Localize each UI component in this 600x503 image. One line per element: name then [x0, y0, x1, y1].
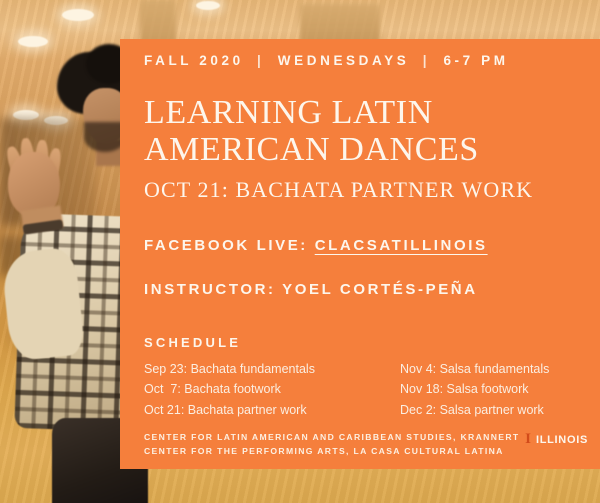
facebook-handle-link[interactable]: CLACSATILLINOIS: [315, 237, 488, 254]
schedule-heading: SCHEDULE: [144, 335, 241, 350]
list-item: Oct 7: Bachata footwork: [144, 379, 356, 399]
brand-wordmark: ILLINOIS: [536, 434, 588, 446]
dancer-sleeve: [1, 246, 86, 361]
illinois-logo: I ILLINOIS: [525, 432, 588, 447]
event-poster: FALL 2020 | WEDNESDAYS | 6-7 PM LEARNING…: [0, 0, 600, 503]
session-subtitle: OCT 21: BACHATA PARTNER WORK: [144, 177, 533, 203]
block-i-icon: I: [525, 432, 531, 447]
ceiling-light-icon: [62, 9, 94, 21]
title-line-1: LEARNING LATIN: [144, 94, 584, 131]
schedule-column-left: Sep 23: Bachata fundamentals Oct 7: Bach…: [144, 359, 356, 420]
footer-line-1: CENTER FOR LATIN AMERICAN AND CARIBBEAN …: [144, 431, 534, 445]
sponsors-footer: CENTER FOR LATIN AMERICAN AND CARIBBEAN …: [144, 431, 534, 459]
ceiling-light-icon: [18, 36, 48, 47]
kicker-day: WEDNESDAYS: [278, 53, 410, 68]
kicker-separator: |: [417, 53, 436, 68]
title-line-2: AMERICAN DANCES: [144, 131, 584, 168]
ceiling-light-icon: [196, 1, 220, 10]
list-item: Dec 2: Salsa partner work: [400, 400, 590, 420]
schedule-list: Sep 23: Bachata fundamentals Oct 7: Bach…: [144, 359, 584, 420]
facebook-live-label: FACEBOOK LIVE:: [144, 237, 308, 254]
list-item: Oct 21: Bachata partner work: [144, 400, 356, 420]
kicker-time: 6-7 PM: [443, 53, 508, 68]
kicker-separator: |: [251, 53, 270, 68]
footer-line-2: CENTER FOR THE PERFORMING ARTS, LA CASA …: [144, 445, 534, 459]
list-item: Nov 18: Salsa footwork: [400, 379, 590, 399]
facebook-live-line: FACEBOOK LIVE: CLACSATILLINOIS: [144, 237, 488, 254]
schedule-column-right: Nov 4: Salsa fundamentals Nov 18: Salsa …: [400, 359, 590, 420]
list-item: Nov 4: Salsa fundamentals: [400, 359, 590, 379]
list-item: Sep 23: Bachata fundamentals: [144, 359, 356, 379]
kicker-term: FALL 2020: [144, 53, 244, 68]
page-title: LEARNING LATIN AMERICAN DANCES: [144, 94, 584, 168]
instructor-line: INSTRUCTOR: YOEL CORTÉS-PEÑA: [144, 281, 478, 298]
content-panel: FALL 2020 | WEDNESDAYS | 6-7 PM LEARNING…: [120, 39, 600, 469]
event-kicker: FALL 2020 | WEDNESDAYS | 6-7 PM: [144, 53, 509, 68]
